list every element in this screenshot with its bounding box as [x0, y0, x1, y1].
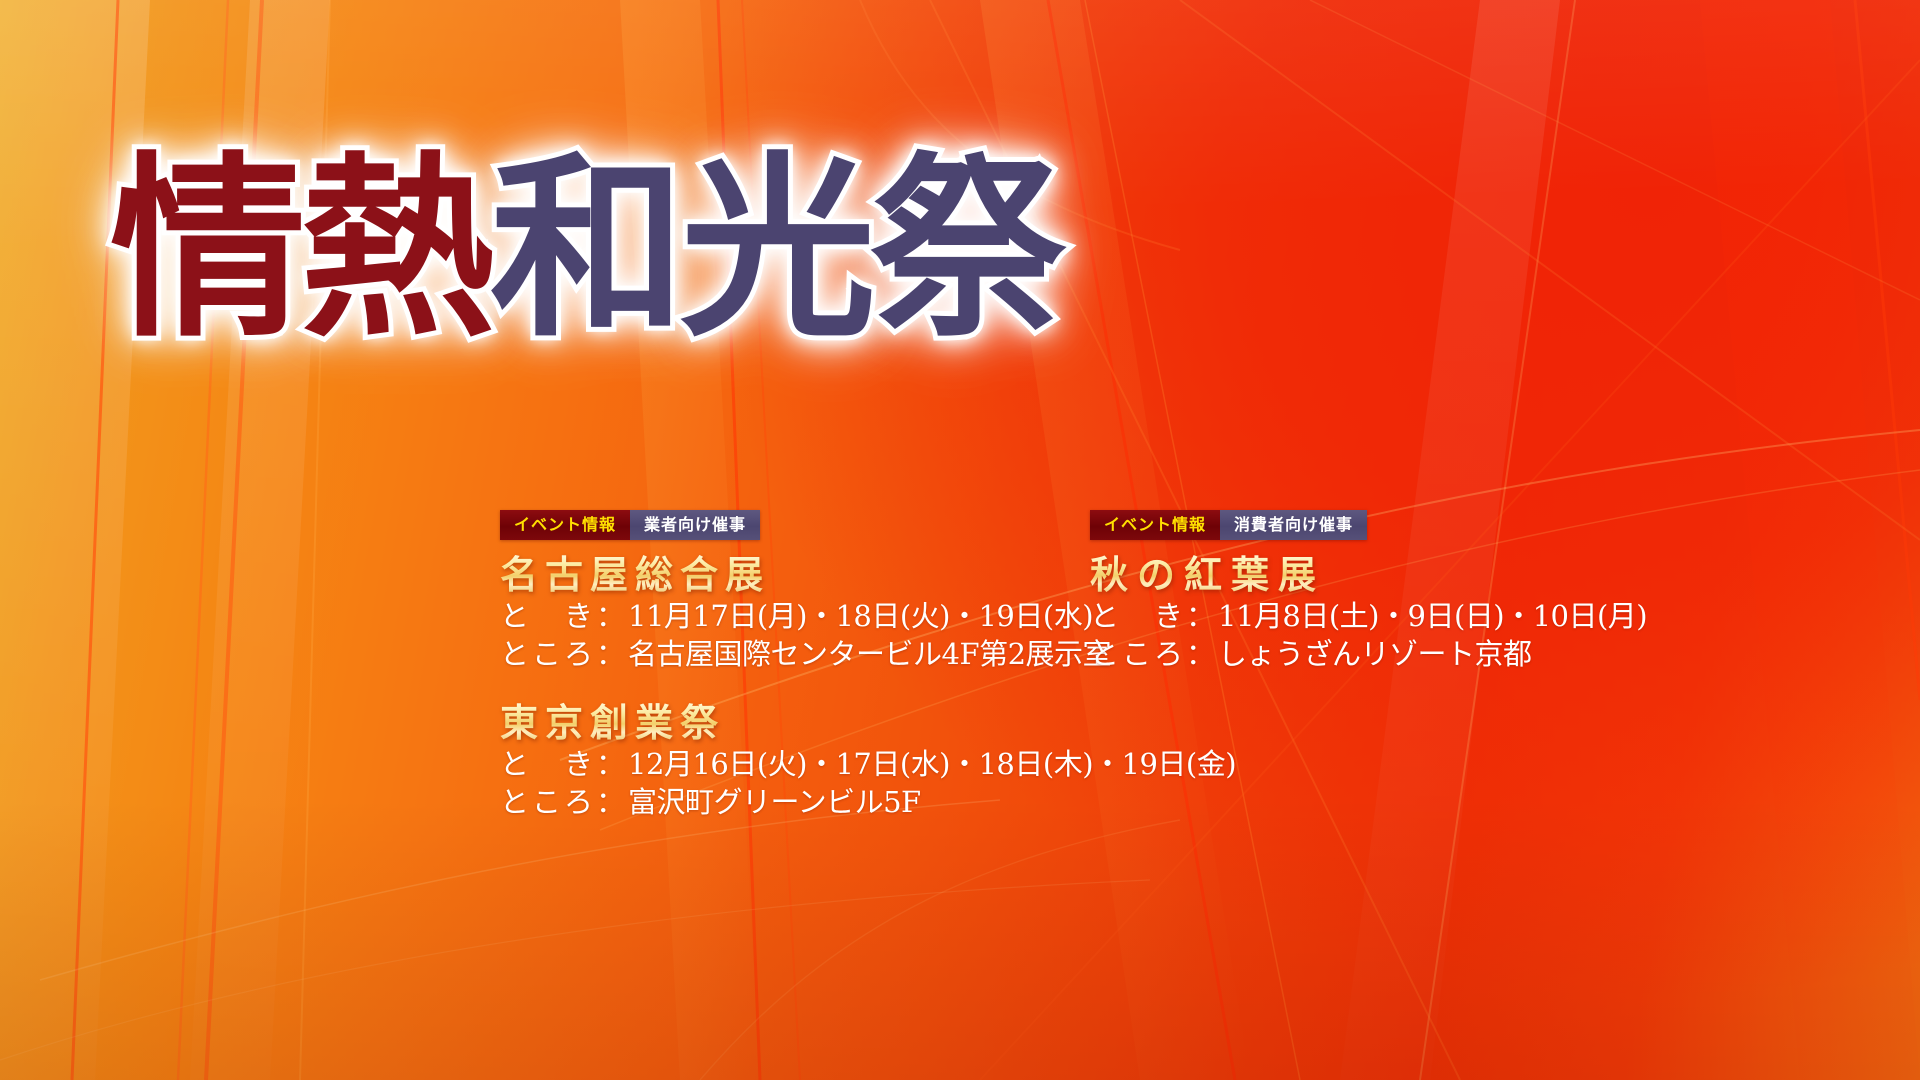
event-when-line: と き：11月8日(土)・9日(日)・10日(月)	[1090, 598, 1650, 636]
poster-title-navy: 和光祭	[490, 134, 1060, 364]
poster-canvas: 情熱和光祭 情熱和光祭 イベント情報 業者向け催事 名古屋総合展 と き：11月…	[0, 0, 1920, 1080]
event-where-value: 名古屋国際センタービル4F第2展示室	[628, 637, 1111, 671]
event-when-label: と き：	[500, 599, 628, 633]
event-when-value: 12月16日(火)・17日(水)・18日(木)・19日(金)	[628, 747, 1236, 781]
badge-audience-label: 業者向け催事	[630, 510, 760, 540]
event-badge: イベント情報 業者向け催事	[500, 510, 760, 540]
event-column-business: イベント情報 業者向け催事 名古屋総合展 と き：11月17日(月)・18日(火…	[500, 510, 1080, 821]
event-item: 東京創業祭 と き：12月16日(火)・17日(水)・18日(木)・19日(金)…	[500, 700, 1080, 822]
event-when-value: 11月17日(月)・18日(火)・19日(水)	[628, 599, 1093, 633]
event-where-line: ところ：富沢町グリーンビル5F	[500, 784, 1080, 822]
event-where-line: ところ：しょうざんリゾート京都	[1090, 636, 1650, 674]
event-when-label: と き：	[1090, 599, 1218, 633]
event-badge: イベント情報 消費者向け催事	[1090, 510, 1367, 540]
event-item: 秋の紅葉展 と き：11月8日(土)・9日(日)・10日(月) ところ：しょうざ…	[1090, 552, 1650, 674]
poster-title: 情熱和光祭 情熱和光祭	[110, 150, 1210, 400]
event-item: 名古屋総合展 と き：11月17日(月)・18日(火)・19日(水) ところ：名…	[500, 552, 1080, 674]
event-name: 秋の紅葉展	[1090, 552, 1650, 598]
event-when-line: と き：11月17日(月)・18日(火)・19日(水)	[500, 598, 1080, 636]
event-where-label: ところ：	[500, 637, 628, 671]
badge-audience-label: 消費者向け催事	[1220, 510, 1367, 540]
event-where-value: 富沢町グリーンビル5F	[628, 785, 921, 819]
event-when-line: と き：12月16日(火)・17日(水)・18日(木)・19日(金)	[500, 746, 1080, 784]
event-where-label: ところ：	[500, 785, 628, 819]
event-when-value: 11月8日(土)・9日(日)・10日(月)	[1218, 599, 1647, 633]
event-name: 東京創業祭	[500, 700, 1080, 746]
event-column-consumer: イベント情報 消費者向け催事 秋の紅葉展 と き：11月8日(土)・9日(日)・…	[1090, 510, 1650, 674]
event-where-value: しょうざんリゾート京都	[1218, 637, 1532, 671]
event-where-label: ところ：	[1090, 637, 1218, 671]
event-when-label: と き：	[500, 747, 628, 781]
event-name: 名古屋総合展	[500, 552, 1080, 598]
badge-event-info-label: イベント情報	[500, 510, 630, 540]
poster-title-red: 情熱	[110, 134, 490, 364]
badge-event-info-label: イベント情報	[1090, 510, 1220, 540]
event-where-line: ところ：名古屋国際センタービル4F第2展示室	[500, 636, 1080, 674]
